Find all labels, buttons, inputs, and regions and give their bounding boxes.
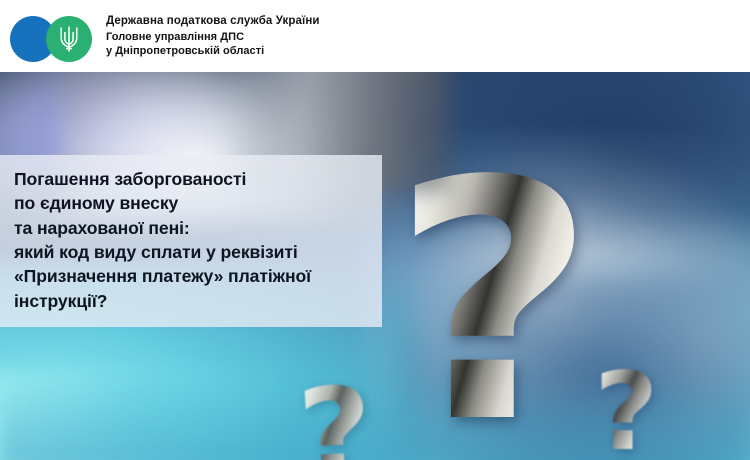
banner-screenshot: Державна податкова служба України Головн… bbox=[0, 0, 750, 460]
question-line-1: Погашення заборгованості bbox=[14, 167, 368, 191]
header-department-line1: Головне управління ДПС bbox=[106, 31, 320, 44]
header-text-block: Державна податкова служба України Головн… bbox=[106, 14, 320, 58]
tax-service-logo bbox=[8, 10, 94, 62]
question-mark-small-right-icon: ? bbox=[594, 359, 659, 460]
ukrainian-trident-icon bbox=[58, 24, 80, 54]
header-department-line2: у Дніпропетровській області bbox=[106, 45, 320, 58]
question-line-2: по єдиному внеску bbox=[14, 191, 368, 215]
banner-image: ? ? ? Погашення заборгованості по єдином… bbox=[0, 72, 750, 460]
site-header: Державна податкова служба України Головн… bbox=[0, 0, 750, 72]
question-line-4: який код виду сплати у реквізиті bbox=[14, 240, 368, 264]
question-text-panel: Погашення заборгованості по єдиному внес… bbox=[0, 155, 382, 327]
question-line-5: «Призначення платежу» платіжної bbox=[14, 264, 368, 288]
question-line-3: та нарахованої пені: bbox=[14, 216, 368, 240]
header-org-name: Державна податкова служба України bbox=[106, 14, 320, 28]
question-mark-small-left-icon: ? bbox=[295, 370, 376, 460]
question-line-6: інструкції? bbox=[14, 289, 368, 313]
